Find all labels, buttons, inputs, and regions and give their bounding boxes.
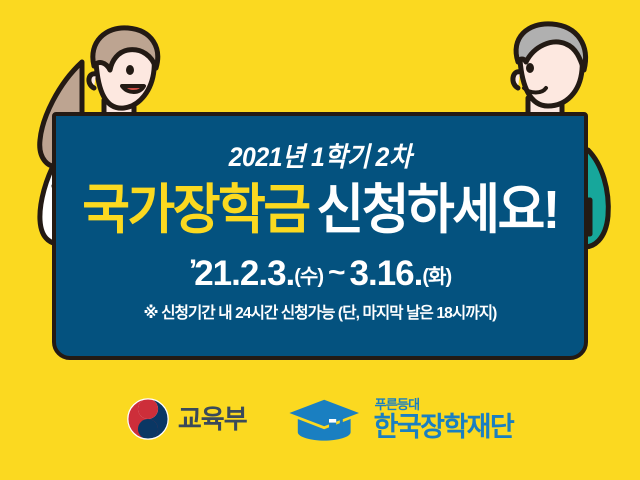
footer-logos: 교육부 푸른등대 한국장학재단 — [0, 388, 640, 450]
date-start: 21.2.3. — [194, 254, 294, 293]
date-tilde: ~ — [328, 256, 345, 289]
announcement-board: 2021년 1학기 2차 국가장학금신청하세요! ’21.2.3.(수)~3.1… — [52, 112, 588, 360]
graduation-cap-lighthouse-icon — [287, 395, 365, 443]
scholarship-announcement-banner: 2021년 1학기 2차 국가장학금신청하세요! ’21.2.3.(수)~3.1… — [0, 0, 640, 480]
face-features — [122, 65, 144, 92]
headline: 국가장학금신청하세요! — [67, 182, 574, 239]
hair — [516, 24, 585, 70]
hair-front — [93, 28, 158, 70]
mouth — [122, 86, 144, 92]
ear — [513, 72, 520, 88]
mouth — [524, 88, 546, 93]
year-apostrophe: ’ — [189, 254, 196, 287]
date-start-weekday: (수) — [294, 266, 323, 288]
taegeuk-icon — [127, 398, 169, 440]
date-end-weekday: (화) — [422, 266, 451, 288]
kosaf-label: 한국장학재단 — [374, 414, 513, 441]
kosaf-logo: 푸른등대 한국장학재단 — [287, 395, 513, 443]
face — [95, 32, 154, 108]
ministry-of-education-logo: 교육부 — [127, 398, 247, 440]
notice-text: ※ 신청기간 내 24시간 신청가능 (단, 마지막 날은 18시까지) — [64, 306, 576, 322]
eyebrow-text: 2021년 1학기 2차 — [77, 144, 563, 171]
headline-rest: 신청하세요! — [316, 180, 557, 240]
kosaf-sub-label: 푸른등대 — [375, 398, 513, 411]
eye — [126, 65, 134, 75]
eye — [526, 63, 534, 73]
face-features — [524, 63, 546, 93]
face — [519, 30, 582, 106]
ear — [89, 74, 96, 88]
headline-highlight: 국가장학금 — [82, 180, 308, 240]
date-range: ’21.2.3.(수)~3.16.(화) — [56, 256, 584, 291]
date-end: 3.16. — [350, 254, 423, 293]
ministry-of-education-label: 교육부 — [178, 406, 247, 432]
kosaf-text-block: 푸른등대 한국장학재단 — [374, 398, 513, 441]
